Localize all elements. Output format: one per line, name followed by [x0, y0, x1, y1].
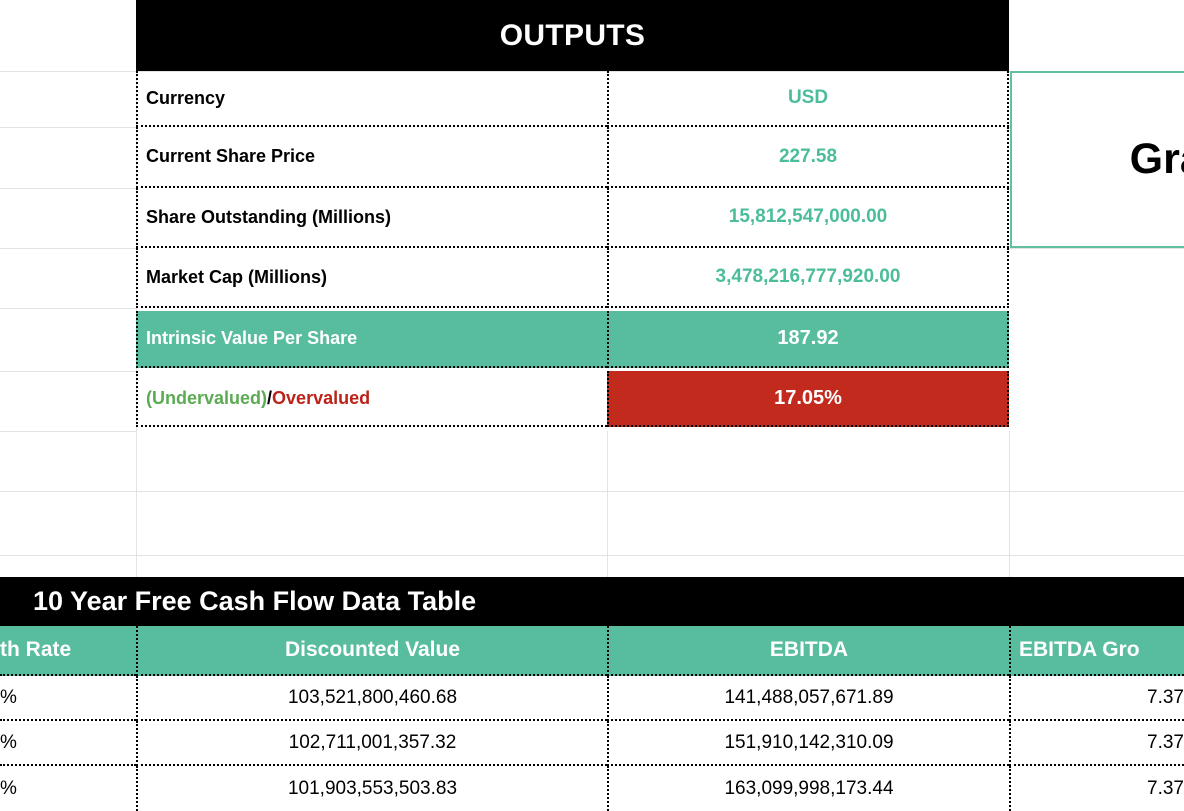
fcf-header-text: EBITDA Gro [1019, 638, 1140, 662]
grid-line [0, 431, 136, 432]
output-label-text: Currency [146, 88, 225, 109]
fcf-cell-growth-rate: % [0, 766, 136, 811]
fcf-cell-discounted-value: 101,903,553,503.83 [136, 766, 607, 811]
grid-line [0, 308, 136, 309]
fcf-cell-ebitda-growth: 7.37 [1009, 676, 1184, 721]
fcf-cell-text: % [0, 687, 17, 709]
fcf-cell-ebitda: 163,099,998,173.44 [607, 766, 1009, 811]
output-row-value: 3,478,216,777,920.00 [607, 248, 1009, 308]
fcf-cell-text: 7.37 [1147, 732, 1184, 754]
fcf-cell-growth-rate: % [0, 721, 136, 766]
output-row-value: 15,812,547,000.00 [607, 188, 1009, 248]
intrinsic-value-label-cell: Intrinsic Value Per Share [136, 311, 607, 368]
fcf-table-banner: 10 Year Free Cash Flow Data Table [0, 577, 1184, 626]
fcf-header-ebitda-growth: EBITDA Gro [1009, 626, 1184, 676]
output-value-text: 15,812,547,000.00 [729, 206, 888, 228]
fcf-cell-text: 102,711,001,357.32 [289, 732, 457, 754]
fcf-header-text: EBITDA [770, 638, 848, 662]
output-row-label: Current Share Price [136, 127, 607, 188]
fcf-cell-ebitda: 141,488,057,671.89 [607, 676, 1009, 721]
fcf-cell-discounted-value: 102,711,001,357.32 [136, 721, 607, 766]
fcf-header-growth-rate: th Rate [0, 626, 136, 676]
fcf-cell-text: 163,099,998,173.44 [724, 778, 893, 800]
grid-line [0, 555, 1184, 556]
output-row-label: Currency [136, 71, 607, 127]
valuation-label-cell: (Undervalued) / Overvalued [136, 371, 607, 427]
intrinsic-value-label: Intrinsic Value Per Share [146, 328, 357, 349]
output-value-text: 3,478,216,777,920.00 [716, 266, 901, 288]
output-row-label: Market Cap (Millions) [136, 248, 607, 308]
outputs-banner-title: OUTPUTS [500, 19, 645, 53]
fcf-header-discounted-value: Discounted Value [136, 626, 607, 676]
spreadsheet-canvas: OUTPUTS Currency USD Current Share Price… [0, 0, 1184, 784]
fcf-cell-growth-rate: % [0, 676, 136, 721]
output-label-text: Share Outstanding (Millions) [146, 207, 391, 228]
grid-line [1009, 431, 1010, 577]
grid-line [0, 127, 136, 128]
intrinsic-value-text: 187.92 [777, 327, 838, 350]
valuation-percent-cell: 17.05% [607, 371, 1009, 427]
fcf-cell-text: % [0, 732, 17, 754]
valuation-percent-text: 17.05% [774, 387, 842, 410]
fcf-cell-text: 141,488,057,671.89 [724, 687, 893, 709]
grid-line [0, 248, 136, 249]
fcf-header-ebitda: EBITDA [607, 626, 1009, 676]
fcf-header-text: Discounted Value [285, 638, 460, 662]
fcf-cell-text: % [0, 778, 17, 800]
output-value-text: 227.58 [779, 146, 837, 168]
grid-line [607, 431, 608, 577]
grid-line [0, 188, 136, 189]
fcf-cell-text: 103,521,800,460.68 [288, 687, 457, 709]
grid-line [1009, 248, 1184, 249]
output-label-text: Market Cap (Millions) [146, 267, 327, 288]
output-row-label: Share Outstanding (Millions) [136, 188, 607, 248]
output-row-value: 227.58 [607, 127, 1009, 188]
fcf-cell-text: 151,910,142,310.09 [724, 732, 893, 754]
fcf-table-title: 10 Year Free Cash Flow Data Table [33, 586, 476, 617]
fcf-header-text: th Rate [0, 638, 71, 662]
fcf-cell-ebitda-growth: 7.37 [1009, 721, 1184, 766]
grid-line [0, 491, 1184, 492]
output-value-text: USD [788, 87, 828, 109]
undervalued-label: (Undervalued) [146, 388, 267, 409]
fcf-cell-text: 101,903,553,503.83 [288, 778, 457, 800]
fcf-cell-discounted-value: 103,521,800,460.68 [136, 676, 607, 721]
grid-line [0, 371, 136, 372]
graph-panel[interactable]: Graph [1010, 71, 1184, 248]
fcf-cell-ebitda-growth: 7.37 [1009, 766, 1184, 811]
output-label-text: Current Share Price [146, 146, 315, 167]
fcf-cell-text: 7.37 [1147, 778, 1184, 800]
overvalued-label: Overvalued [272, 388, 370, 409]
graph-panel-title: Graph [1130, 135, 1184, 184]
fcf-cell-text: 7.37 [1147, 687, 1184, 709]
fcf-cell-ebitda: 151,910,142,310.09 [607, 721, 1009, 766]
output-row-value: USD [607, 71, 1009, 127]
outputs-banner: OUTPUTS [136, 0, 1009, 71]
intrinsic-value-cell: 187.92 [607, 311, 1009, 368]
